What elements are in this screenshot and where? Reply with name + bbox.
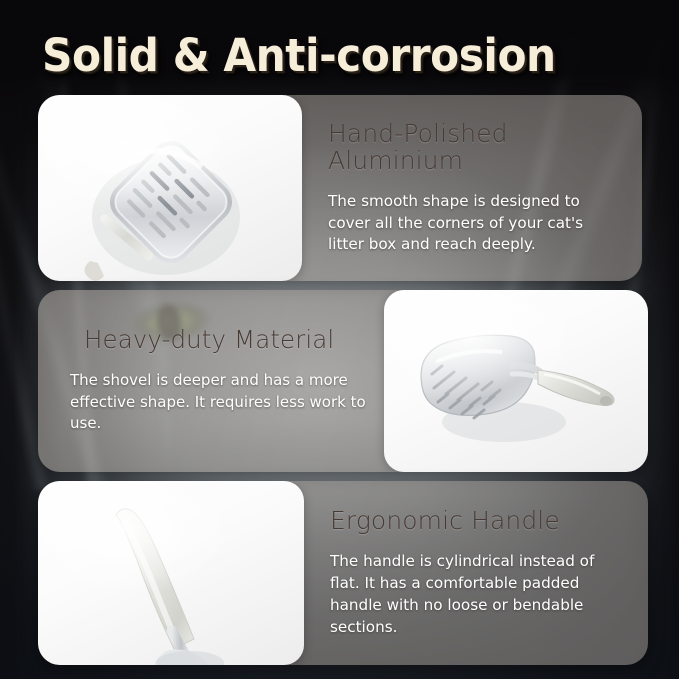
feature-body-2: The shovel is deeper and has a more effe… — [70, 370, 366, 435]
feature-body-3: The handle is cylindrical instead of fla… — [330, 551, 628, 639]
litter-scoop-diamond-head-photo — [38, 95, 302, 281]
infographic-root: Solid & Anti-corrosion — [0, 0, 679, 679]
feature-heading-3: Ergonomic Handle — [330, 507, 628, 535]
feature-card-hand-polished-aluminium: Hand-Polished Aluminium The smooth shape… — [38, 95, 642, 281]
litter-scoop-handle-closeup-photo — [38, 481, 304, 665]
litter-scoop-full-view-photo — [384, 290, 648, 472]
feature-text-2: Heavy-duty Material The shovel is deeper… — [38, 290, 384, 472]
feature-text-1: Hand-Polished Aluminium The smooth shape… — [302, 95, 642, 281]
product-image-panel-3 — [38, 481, 304, 665]
feature-text-3: Ergonomic Handle The handle is cylindric… — [304, 481, 648, 665]
feature-card-heavy-duty-material: Heavy-duty Material The shovel is deeper… — [38, 290, 648, 472]
page-title: Solid & Anti-corrosion — [42, 29, 556, 82]
product-image-panel-1 — [38, 95, 302, 281]
feature-card-ergonomic-handle: Ergonomic Handle The handle is cylindric… — [38, 481, 648, 665]
feature-heading-1: Hand-Polished Aluminium — [328, 120, 622, 175]
product-image-panel-2 — [384, 290, 648, 472]
feature-heading-2: Heavy-duty Material — [84, 327, 366, 354]
feature-body-1: The smooth shape is designed to cover al… — [328, 191, 622, 257]
